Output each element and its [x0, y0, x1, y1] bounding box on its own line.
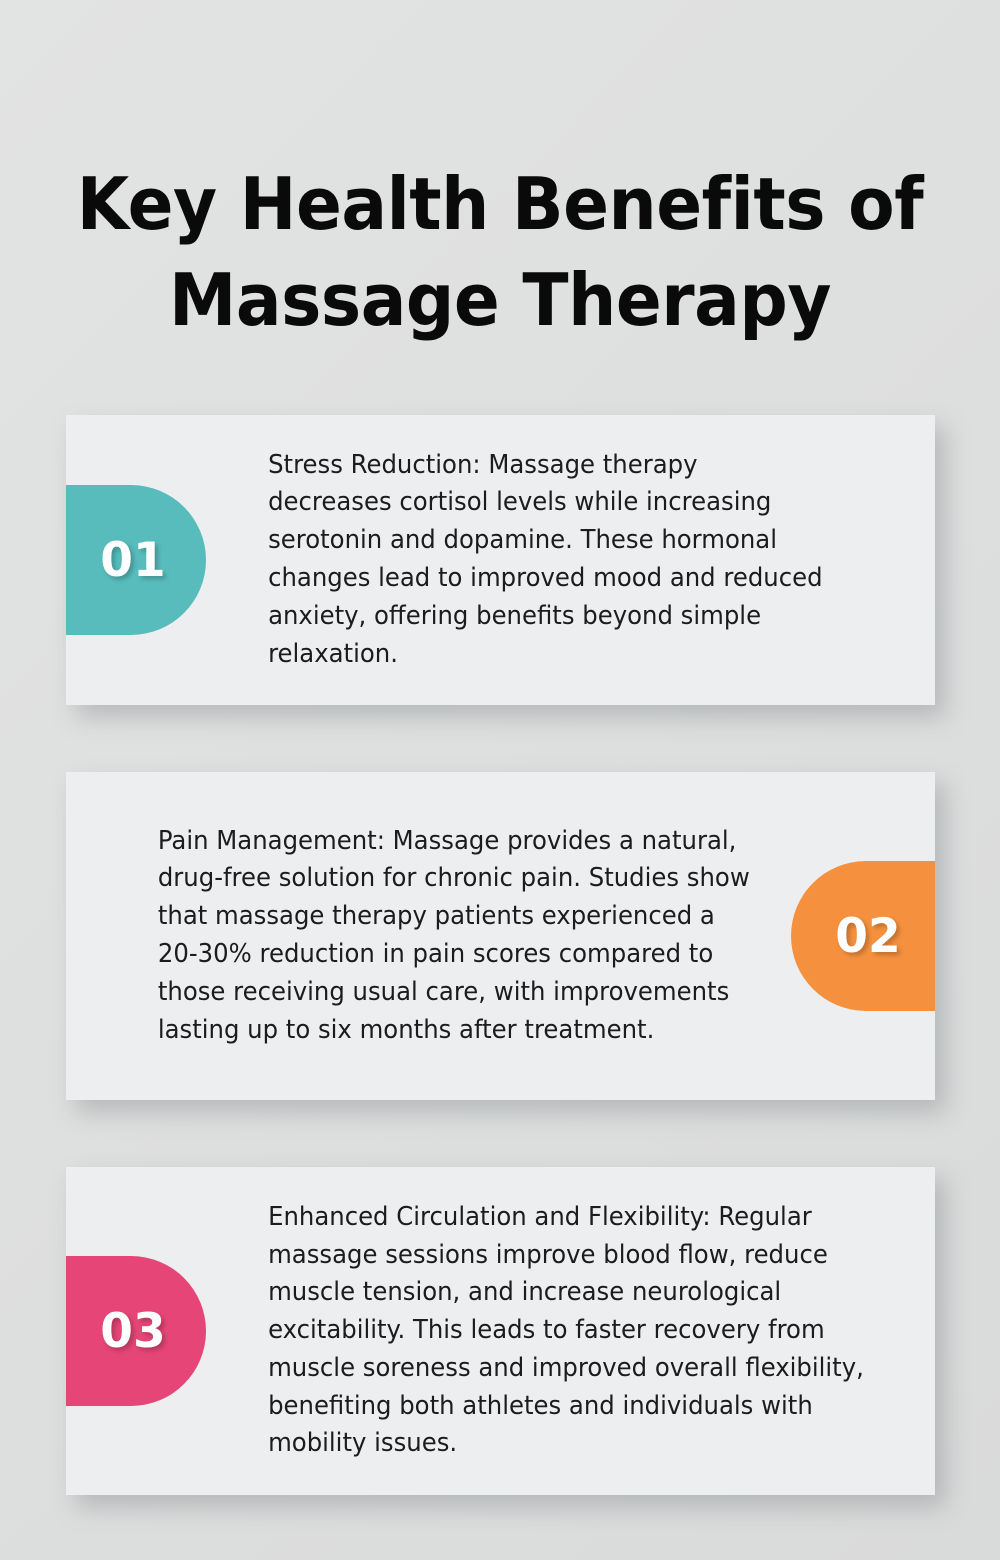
benefit-number-2: 02 [835, 913, 900, 960]
benefit-text-2: Pain Management: Massage provides a natu… [99, 823, 791, 1050]
benefit-text-3: Enhanced Circulation and Flexibility: Re… [206, 1199, 902, 1464]
benefit-number-badge-1: 01 [66, 485, 206, 635]
benefit-number-badge-3: 03 [66, 1256, 206, 1406]
benefit-number-badge-2: 02 [791, 861, 935, 1011]
benefit-number-3: 03 [100, 1308, 165, 1355]
benefit-text-1: Stress Reduction: Massage therapy decrea… [206, 447, 902, 674]
benefit-card-3: 03 Enhanced Circulation and Flexibility:… [66, 1167, 935, 1495]
benefit-card-2: 02 Pain Management: Massage provides a n… [66, 772, 935, 1100]
benefit-card-1: 01 Stress Reduction: Massage therapy dec… [66, 415, 935, 705]
page-title: Key Health Benefits of Massage Therapy [30, 156, 970, 348]
benefit-number-1: 01 [100, 537, 165, 584]
